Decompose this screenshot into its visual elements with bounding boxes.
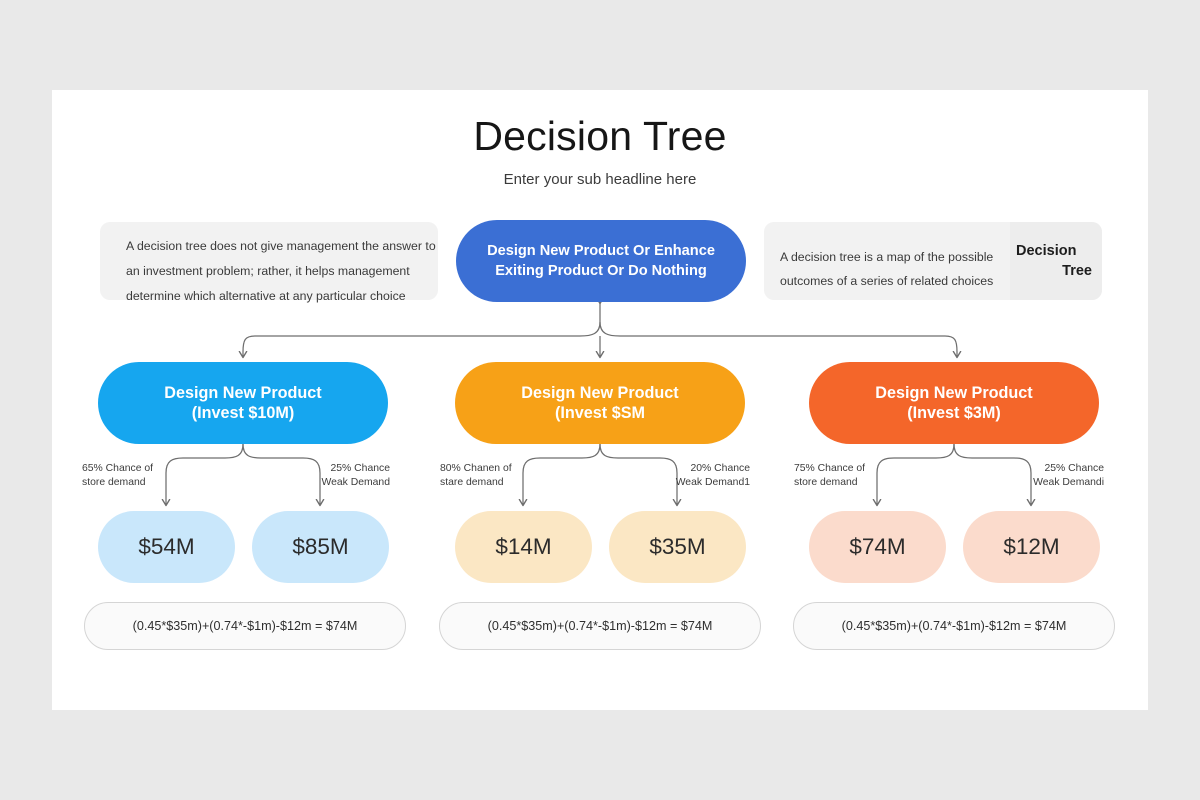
page-title: Decision Tree: [52, 113, 1148, 160]
info-right-line1: A decision tree is a map of the possible: [780, 245, 1008, 269]
leaf-0-left[interactable]: $54M: [98, 511, 235, 583]
badge-line1: Decision: [1010, 241, 1102, 261]
prob-1-right-line2: Weak Demand1: [622, 476, 750, 490]
prob-1-left-line2: stare demand: [440, 476, 512, 490]
leaf-1-right[interactable]: $35M: [609, 511, 746, 583]
formula-box-2: (0.45*$35m)+(0.74*-$1m)-$12m = $74M: [793, 602, 1115, 650]
node-branch-0[interactable]: Design New Product (Invest $10M): [98, 362, 388, 444]
prob-2-left-line1: 75% Chance of: [794, 462, 865, 476]
info-left-line2: an investment problem; rather, it helps …: [126, 259, 422, 284]
prob-0-right-line1: 25% Chance: [270, 462, 390, 476]
prob-label-0-left: 65% Chance of store demand: [82, 462, 153, 489]
info-left-line3: determine which alternative at any parti…: [126, 284, 422, 309]
prob-1-right-line1: 20% Chance: [622, 462, 750, 476]
prob-0-right-line2: Weak Demand: [270, 476, 390, 490]
prob-0-left-line2: store demand: [82, 476, 153, 490]
formula-box-0: (0.45*$35m)+(0.74*-$1m)-$12m = $74M: [84, 602, 406, 650]
prob-label-2-left: 75% Chance of store demand: [794, 462, 865, 489]
leaf-0-right[interactable]: $85M: [252, 511, 389, 583]
node-root-line2: Exiting Product Or Do Nothing: [487, 261, 715, 281]
node-root[interactable]: Design New Product Or Enhance Exiting Pr…: [456, 220, 746, 302]
node-branch-1-line2: (Invest $SM: [521, 403, 678, 423]
prob-label-2-right: 25% Chance Weak Demandi: [976, 462, 1104, 489]
prob-2-right-line2: Weak Demandi: [976, 476, 1104, 490]
info-panel-right: A decision tree is a map of the possible…: [764, 222, 1102, 300]
formula-box-1: (0.45*$35m)+(0.74*-$1m)-$12m = $74M: [439, 602, 761, 650]
node-branch-1[interactable]: Design New Product (Invest $SM: [455, 362, 745, 444]
node-branch-0-line2: (Invest $10M): [164, 403, 321, 423]
node-branch-2[interactable]: Design New Product (Invest $3M): [809, 362, 1099, 444]
node-root-line1: Design New Product Or Enhance: [487, 241, 715, 261]
slide-stage: Decision Tree Enter your sub headline he…: [0, 0, 1200, 800]
prob-label-1-right: 20% Chance Weak Demand1: [622, 462, 750, 489]
node-branch-0-line1: Design New Product: [164, 383, 321, 403]
page-subtitle: Enter your sub headline here: [52, 171, 1148, 188]
node-branch-2-line1: Design New Product: [875, 383, 1032, 403]
prob-label-0-right: 25% Chance Weak Demand: [270, 462, 390, 489]
prob-label-1-left: 80% Chanen of stare demand: [440, 462, 512, 489]
info-right-text: A decision tree is a map of the possible…: [780, 245, 1008, 293]
prob-2-right-line1: 25% Chance: [976, 462, 1104, 476]
leaf-2-left[interactable]: $74M: [809, 511, 946, 583]
leaf-1-left[interactable]: $14M: [455, 511, 592, 583]
node-branch-1-line1: Design New Product: [521, 383, 678, 403]
badge-line2: Tree: [1010, 261, 1102, 281]
info-left-line1: A decision tree does not give management…: [126, 234, 422, 259]
prob-0-left-line1: 65% Chance of: [82, 462, 153, 476]
node-branch-2-line2: (Invest $3M): [875, 403, 1032, 423]
info-panel-left: A decision tree does not give management…: [100, 222, 438, 300]
decision-tree-badge: Decision Tree: [1010, 222, 1102, 300]
info-right-line2: outcomes of a series of related choices: [780, 269, 1008, 293]
leaf-2-right[interactable]: $12M: [963, 511, 1100, 583]
slide-card: Decision Tree Enter your sub headline he…: [52, 90, 1148, 710]
prob-2-left-line2: store demand: [794, 476, 865, 490]
prob-1-left-line1: 80% Chanen of: [440, 462, 512, 476]
